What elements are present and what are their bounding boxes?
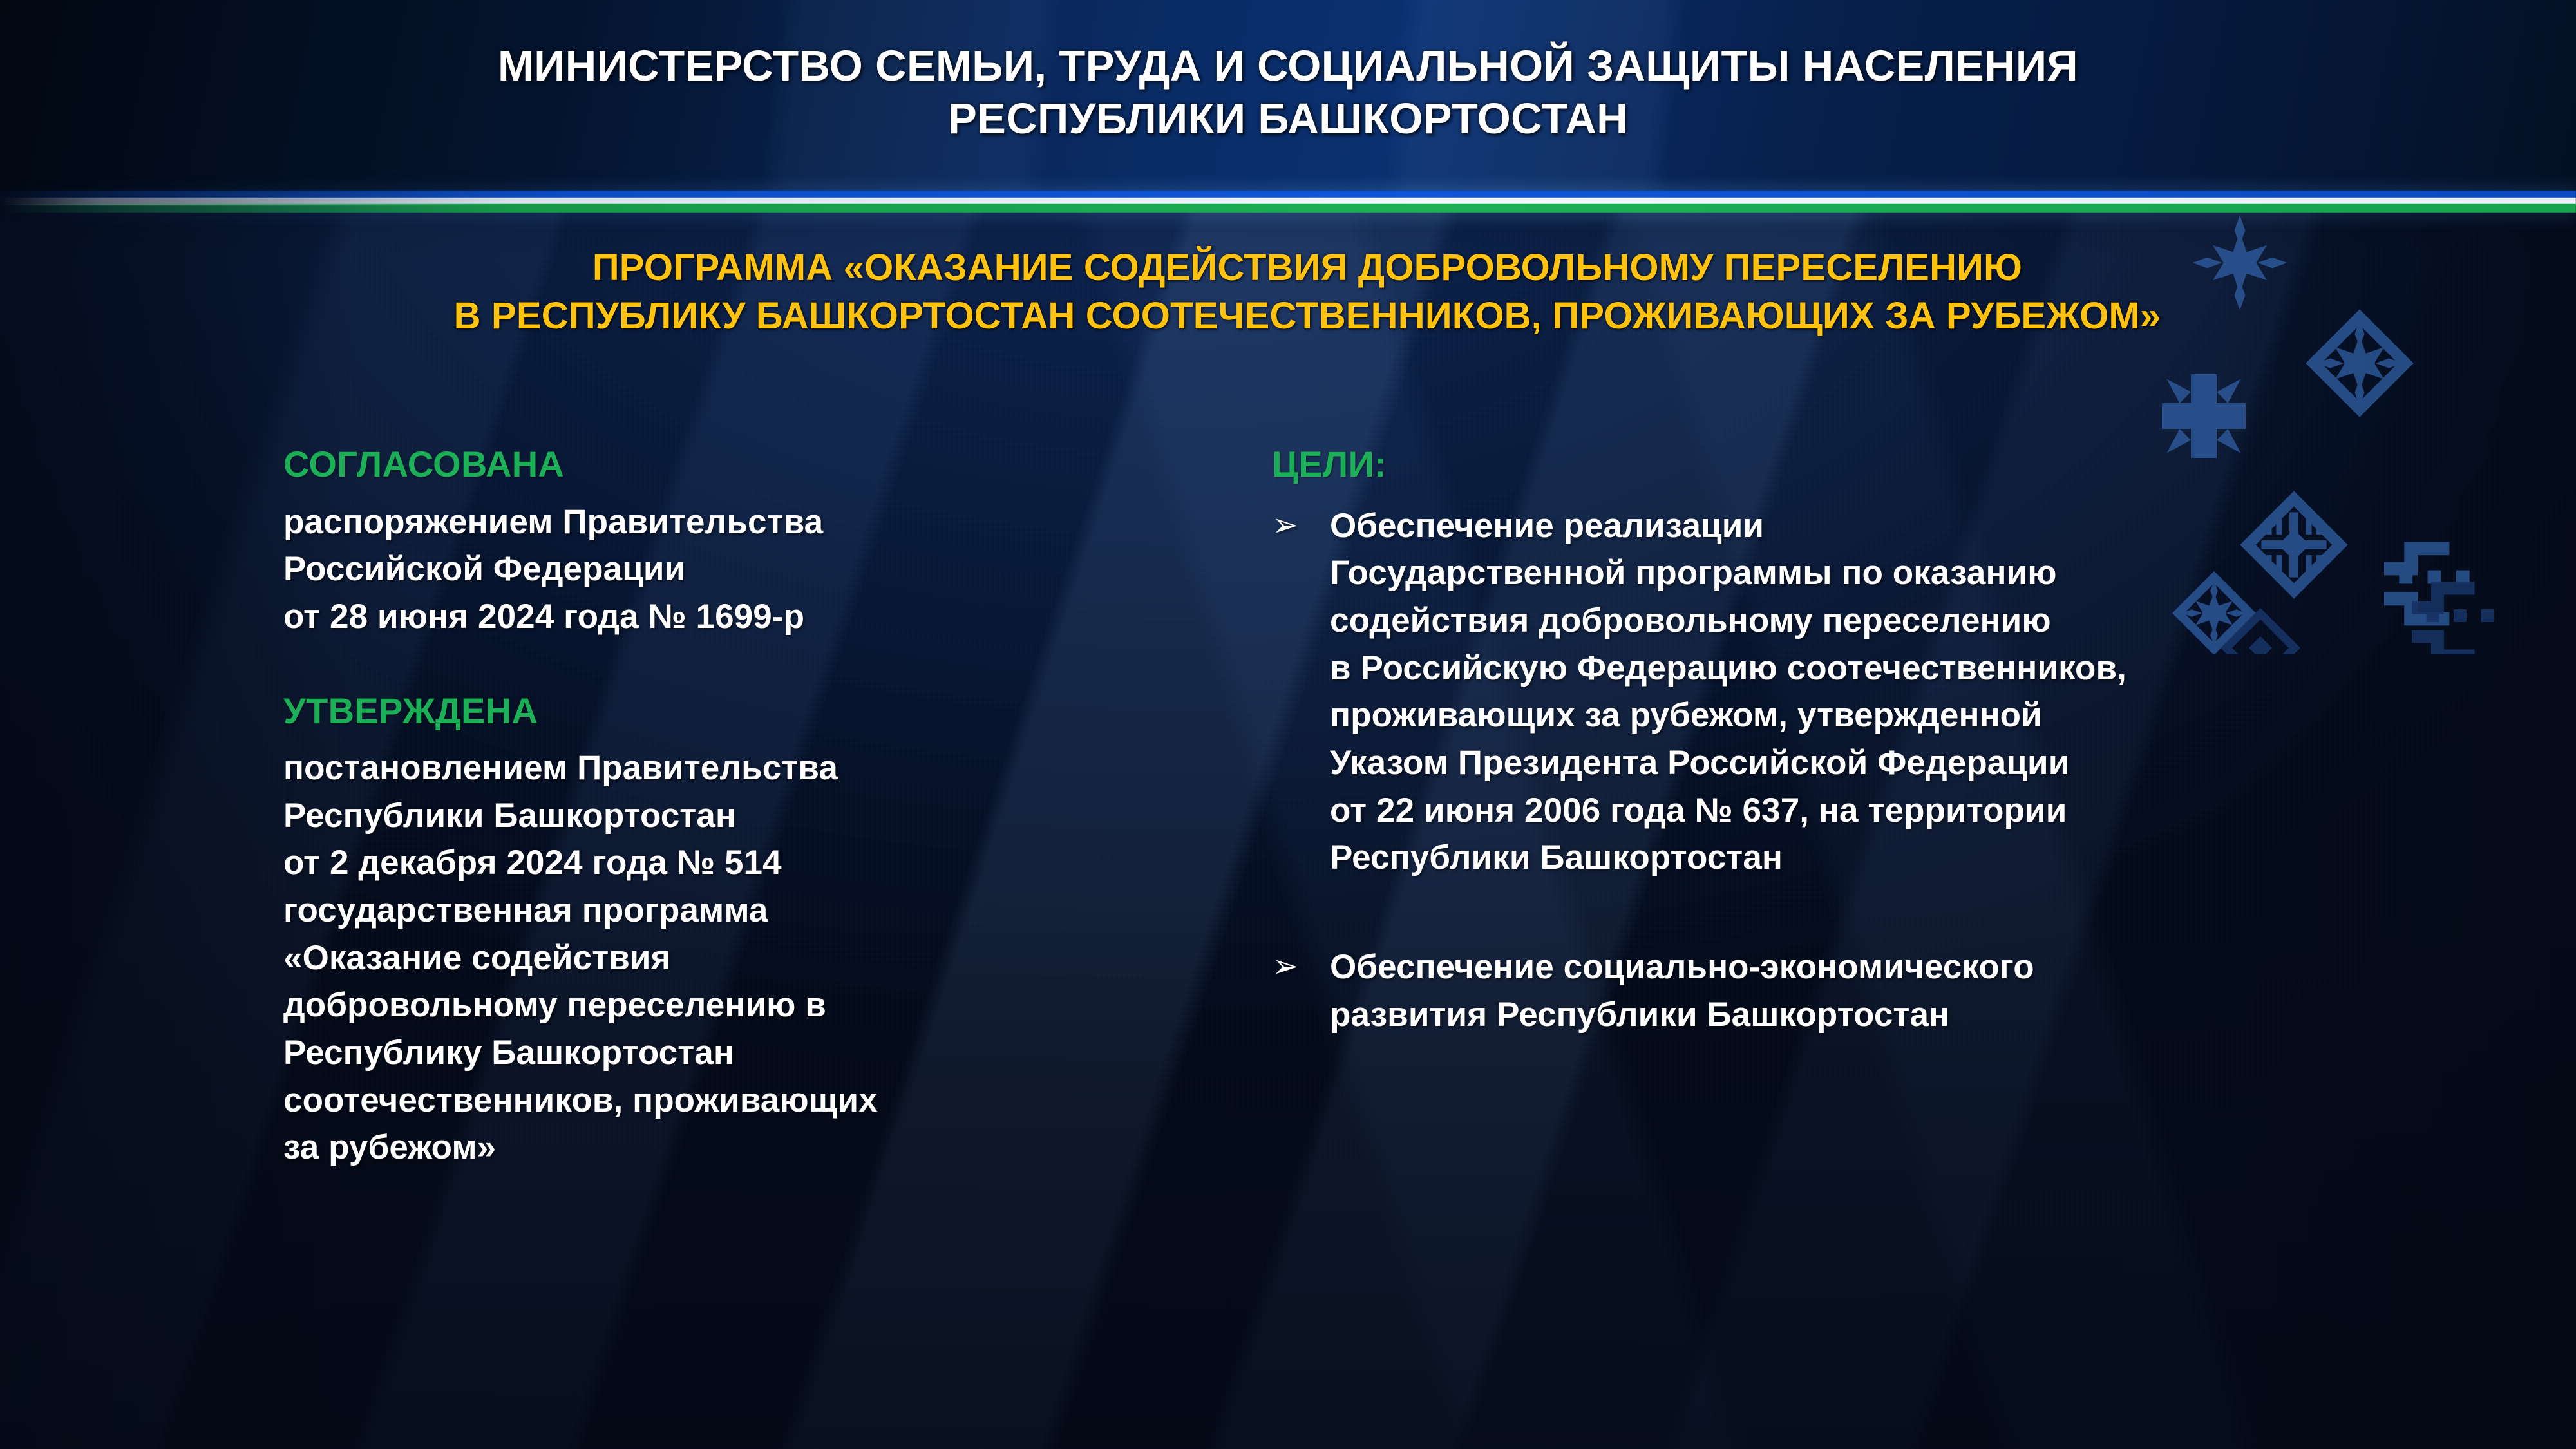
soglasovana-body: распоряжением Правительства Российской Ф… — [283, 498, 1204, 641]
goal-text: Обеспечение реализации Государственной п… — [1330, 502, 2412, 882]
utverzhdena-heading: УТВЕРЖДЕНА — [283, 691, 1204, 731]
utverzhdena-body: постановлением Правительства Республики … — [283, 744, 1204, 1171]
goal-item: ➢ Обеспечение реализации Государственной… — [1272, 502, 2412, 882]
goal-item: ➢ Обеспечение социально-экономического р… — [1272, 943, 2412, 1038]
arrow-bullet-icon: ➢ — [1272, 943, 1330, 989]
goals-list: ➢ Обеспечение реализации Государственной… — [1272, 502, 2412, 1039]
left-column: СОГЛАСОВАНА распоряжением Правительства … — [283, 444, 1204, 1171]
content-columns: СОГЛАСОВАНА распоряжением Правительства … — [0, 444, 2576, 1397]
right-column: ЦЕЛИ: ➢ Обеспечение реализации Государст… — [1272, 444, 2412, 1038]
ministry-title: МИНИСТЕРСТВО СЕМЬИ, ТРУДА И СОЦИАЛЬНОЙ З… — [0, 40, 2576, 146]
flag-stripe-divider — [0, 191, 2576, 213]
presentation-slide: МИНИСТЕРСТВО СЕМЬИ, ТРУДА И СОЦИАЛЬНОЙ З… — [0, 0, 2576, 1449]
block-soglasovana: СОГЛАСОВАНА распоряжением Правительства … — [283, 444, 1204, 641]
flag-band-green — [0, 204, 2576, 213]
block-utverzhdena: УТВЕРЖДЕНА постановлением Правительства … — [283, 691, 1204, 1172]
goal-text: Обеспечение социально-экономического раз… — [1330, 943, 2412, 1038]
column-spacer — [283, 641, 1204, 691]
soglasovana-heading: СОГЛАСОВАНА — [283, 444, 1204, 484]
arrow-bullet-icon: ➢ — [1272, 502, 1330, 548]
program-title: ПРОГРАММА «ОКАЗАНИЕ СОДЕЙСТВИЯ ДОБРОВОЛЬ… — [97, 243, 2518, 341]
goals-heading: ЦЕЛИ: — [1272, 444, 2412, 484]
